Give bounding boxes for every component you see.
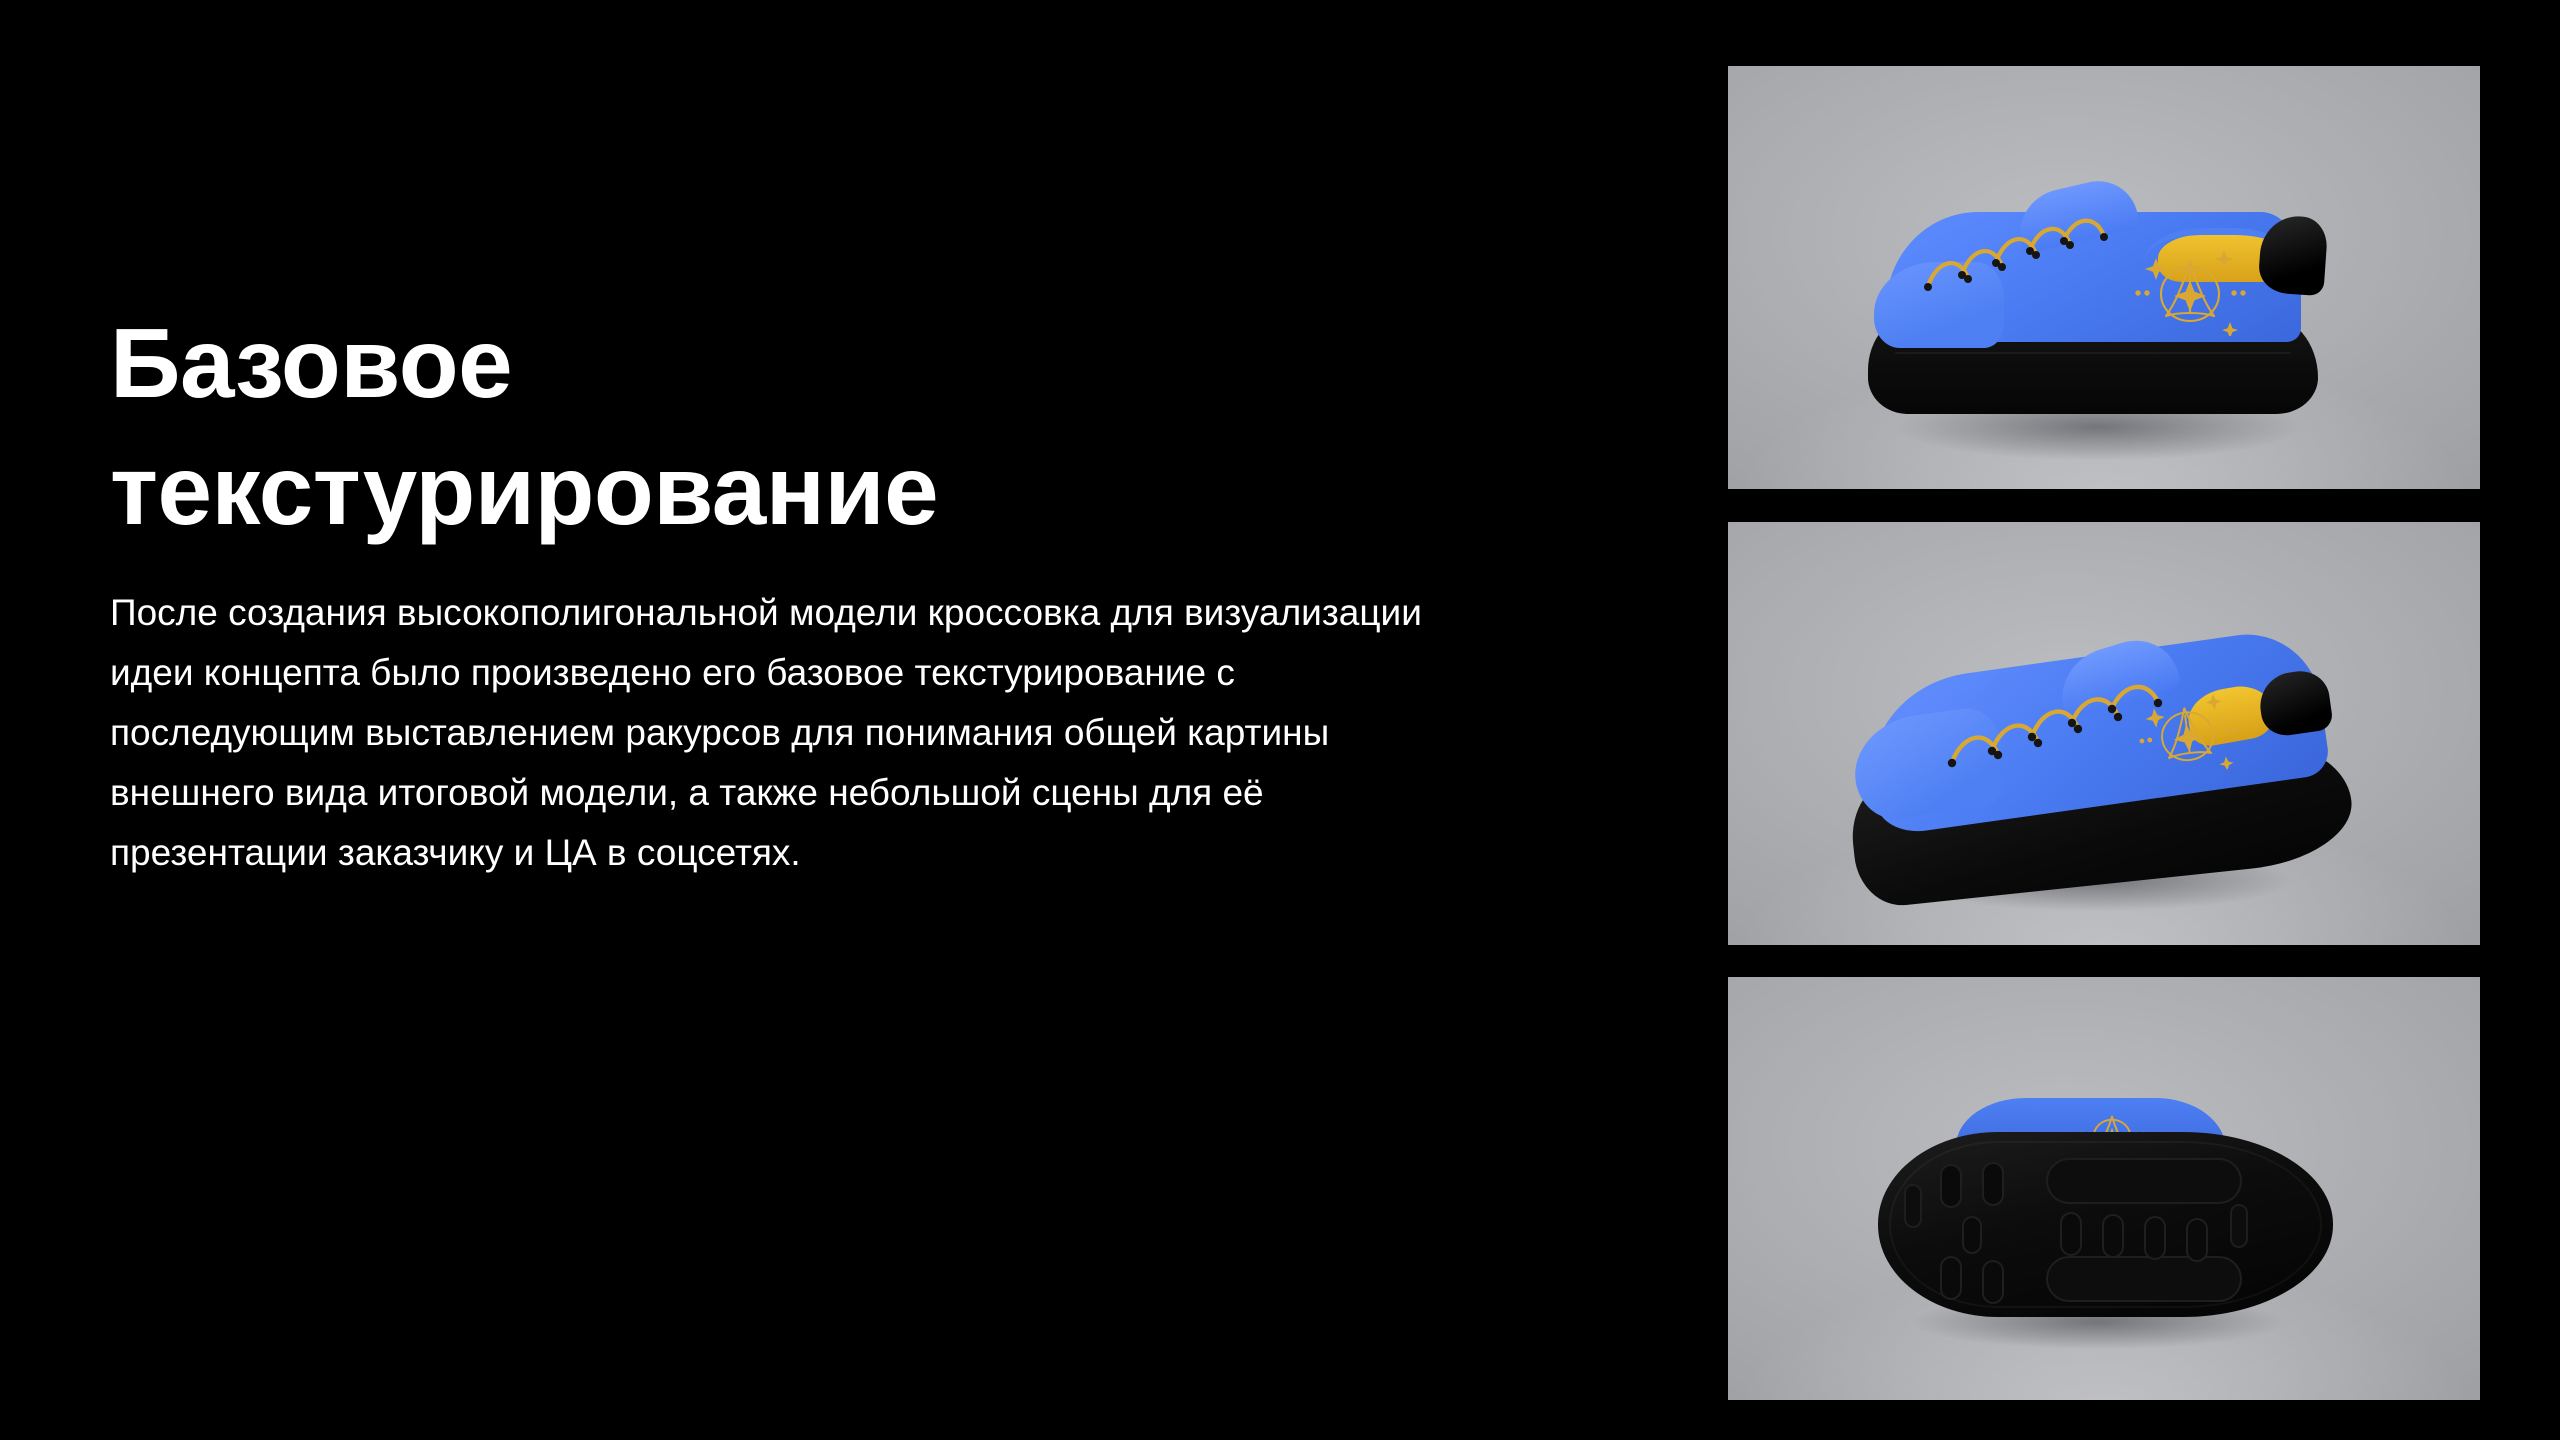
- tread-lug: [1982, 1162, 2004, 1206]
- image-gallery: [1728, 0, 2480, 1440]
- tread-lug: [2060, 1212, 2082, 1256]
- tread-lug: [1962, 1216, 1982, 1254]
- tread-lug: [2186, 1218, 2208, 1262]
- sneaker-outsole-view: [1878, 1092, 2338, 1327]
- body-paragraph: После создания высокополигональной модел…: [110, 583, 1445, 883]
- render-stage: [1728, 66, 2480, 489]
- tread-pad-forefoot-bottom: [2046, 1256, 2242, 1302]
- headline-line-1: Базовое: [110, 300, 1260, 427]
- tread-pad-toe: [2230, 1204, 2248, 1248]
- sneaker-three-quarter-view: [1846, 592, 2366, 892]
- shoelaces: [1912, 212, 2142, 296]
- render-stage: [1728, 522, 2480, 945]
- sneaker-side-view: [1868, 154, 2338, 414]
- tread-lug: [1982, 1260, 2004, 1304]
- presentation-slide: Базовое текстурирование После создания в…: [0, 0, 2560, 1440]
- tread-lug: [2102, 1214, 2124, 1258]
- product-image-side-profile[interactable]: [1728, 66, 2480, 489]
- tread-lug: [2144, 1216, 2166, 1260]
- render-stage: [1728, 977, 2480, 1400]
- outsole: [1878, 1132, 2333, 1317]
- tread-pad-heel: [1904, 1184, 1922, 1228]
- headline-line-2: текстурирование: [110, 427, 1260, 554]
- text-column: Базовое текстурирование После создания в…: [110, 300, 1510, 882]
- tread-pad-forefoot-top: [2046, 1158, 2242, 1204]
- tread-lug: [1940, 1256, 1962, 1300]
- product-image-three-quarter[interactable]: [1728, 522, 2480, 945]
- shoelaces: [1938, 672, 2188, 772]
- product-image-outsole[interactable]: [1728, 977, 2480, 1400]
- page-title: Базовое текстурирование: [110, 300, 1260, 555]
- tread-lug: [1940, 1164, 1962, 1208]
